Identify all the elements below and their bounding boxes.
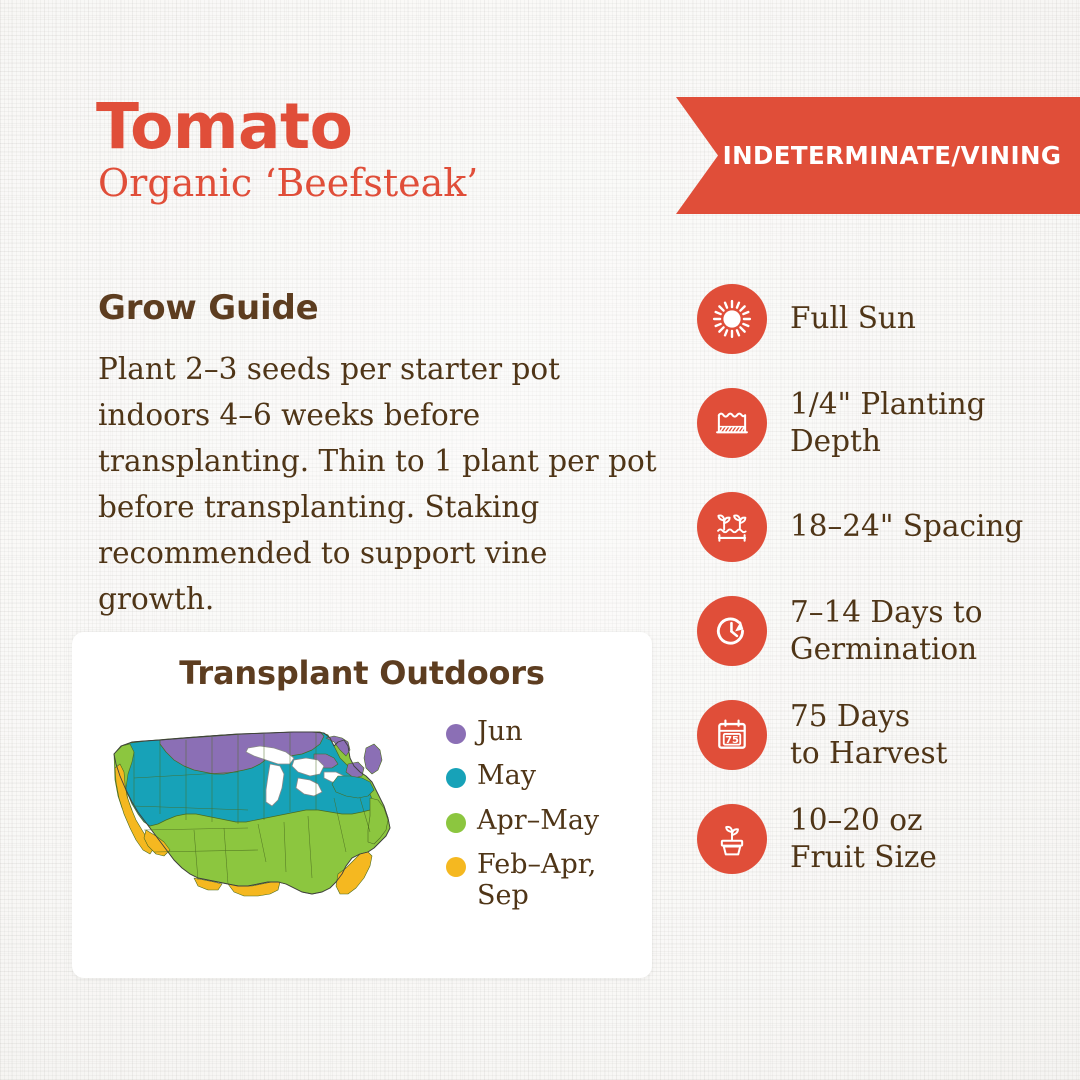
spec-row-germination: 7–14 Days to Germination (697, 593, 1067, 669)
legend-label: May (477, 760, 536, 791)
spec-line-2: Germination (790, 631, 982, 668)
spec-text-spacing: 18–24" Spacing (790, 508, 1023, 545)
grow-guide-body: Plant 2–3 seeds per starter pot indoors … (98, 346, 663, 622)
page-title: Tomato (96, 96, 666, 158)
clock-icon (697, 596, 767, 666)
spec-row-spacing: 18–24" Spacing (697, 489, 1067, 565)
left-column: Tomato Organic ‘Beefsteak’ Grow Guide Pl… (96, 96, 666, 622)
map-legend: Jun May Apr–May Feb–Apr, Sep (446, 716, 599, 912)
depth-icon (697, 388, 767, 458)
grow-guide-heading: Grow Guide (98, 288, 666, 328)
spec-line-1: 18–24" Spacing (790, 508, 1023, 545)
spec-text-harvest: 75 Days to Harvest (790, 698, 948, 772)
banner-label: INDETERMINATE/VINING (695, 141, 1062, 170)
spec-row-fruit-size: 10–20 oz Fruit Size (697, 801, 1067, 877)
legend-item-apr-may: Apr–May (446, 805, 599, 836)
spec-line-2: to Harvest (790, 735, 948, 772)
product-variety: Organic ‘Beefsteak’ (98, 162, 666, 205)
spec-row-sun: Full Sun (697, 281, 1067, 357)
variety-type-banner: INDETERMINATE/VINING (676, 97, 1080, 214)
pot-icon (697, 804, 767, 874)
map-body: Jun May Apr–May Feb–Apr, Sep (72, 702, 652, 924)
spec-text-planting-depth: 1/4" Planting Depth (790, 386, 985, 460)
legend-item-may: May (446, 760, 599, 791)
legend-label: Jun (477, 716, 523, 747)
legend-label-multiline: Feb–Apr, Sep (477, 849, 596, 912)
spec-line-1: 10–20 oz (790, 802, 937, 839)
calendar-badge-value: 75 (725, 735, 739, 746)
spec-line-1: 7–14 Days to (790, 594, 982, 631)
spec-line-1: 1/4" Planting (790, 386, 985, 423)
map-card-title: Transplant Outdoors (72, 654, 652, 692)
calendar-icon: 75 (697, 700, 767, 770)
spec-row-harvest: 75 75 Days to Harvest (697, 697, 1067, 773)
legend-label: Apr–May (477, 805, 599, 836)
spec-line-1: Full Sun (790, 300, 916, 337)
legend-swatch (446, 813, 466, 833)
spec-row-planting-depth: 1/4" Planting Depth (697, 385, 1067, 461)
transplant-map-card: Transplant Outdoors (72, 632, 652, 978)
spec-line-2: Fruit Size (790, 839, 937, 876)
spec-line-2: Depth (790, 423, 985, 460)
legend-swatch (446, 768, 466, 788)
spec-text-germination: 7–14 Days to Germination (790, 594, 982, 668)
legend-item-feb-apr-sep: Feb–Apr, Sep (446, 849, 599, 912)
spec-text-fruit-size: 10–20 oz Fruit Size (790, 802, 937, 876)
legend-item-jun: Jun (446, 716, 599, 747)
legend-swatch (446, 724, 466, 744)
legend-swatch (446, 857, 466, 877)
spec-list: Full Sun 1/4" (697, 281, 1067, 877)
sun-icon (697, 284, 767, 354)
spacing-icon (697, 492, 767, 562)
legend-label-line-1: Feb–Apr, (477, 849, 596, 880)
usa-zone-map (98, 702, 438, 924)
spec-text-sun: Full Sun (790, 300, 916, 337)
spec-line-1: 75 Days (790, 698, 948, 735)
legend-label-line-2: Sep (477, 880, 529, 911)
